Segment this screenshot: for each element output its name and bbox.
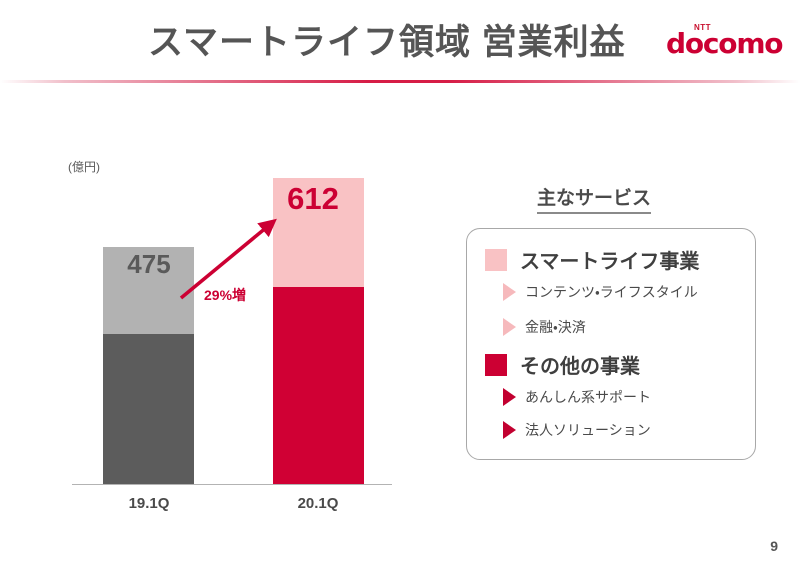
chart-unit-label: (億円): [68, 158, 100, 175]
services-legend-box: スマートライフ事業 コンテンツ・ライフスタイル 金融・決済 その他の事業 あんし…: [466, 228, 756, 460]
docomo-logo: NTT docomo: [666, 24, 778, 60]
legend-group-smartlife-label: スマートライフ事業: [520, 245, 699, 274]
legend-item-corporate-solution-label: 法人ソリューション: [525, 420, 651, 440]
legend-item-contents-lifestyle-label: コンテンツ・ライフスタイル: [525, 282, 698, 302]
bar-20-1q[interactable]: [273, 178, 364, 484]
legend-group-other-label: その他の事業: [520, 350, 640, 379]
header-divider: [0, 80, 800, 83]
chart-baseline-axis: [72, 484, 392, 485]
services-heading: 主なサービス: [537, 183, 651, 214]
legend-item-anshin-support[interactable]: あんしん系サポート: [485, 387, 651, 407]
bar-19-1q[interactable]: [103, 247, 194, 485]
triangle-marker-red-icon: [503, 388, 516, 406]
x-tick-19-1q: 19.1Q: [84, 495, 214, 512]
legend-group-smartlife[interactable]: スマートライフ事業: [485, 245, 699, 274]
page-number: 9: [770, 538, 778, 554]
growth-rate-label: 29%増: [204, 285, 246, 305]
legend-item-corporate-solution[interactable]: 法人ソリューション: [485, 420, 651, 440]
legend-item-finance-payment[interactable]: 金融・決済: [485, 317, 586, 337]
legend-item-contents-lifestyle[interactable]: コンテンツ・ライフスタイル: [485, 282, 698, 302]
bar-segment-other-19-1q: [103, 334, 194, 484]
legend-swatch-pink-icon: [485, 249, 507, 271]
legend-item-finance-payment-label: 金融・決済: [525, 317, 586, 337]
bar-chart: (億円) 475 612 29%増 19.1Q 20.1Q: [0, 90, 440, 530]
logo-wordmark-text: docomo: [666, 30, 782, 58]
triangle-marker-pink-icon: [503, 283, 516, 301]
triangle-marker-pink-icon: [503, 318, 516, 336]
bar-segment-other-20-1q: [273, 287, 364, 485]
slide-header: スマートライフ領域 営業利益 NTT docomo: [0, 0, 800, 80]
triangle-marker-red-icon: [503, 421, 516, 439]
x-tick-20-1q: 20.1Q: [253, 495, 383, 512]
legend-item-anshin-support-label: あんしん系サポート: [525, 387, 651, 407]
bar-value-20-1q: 612: [248, 181, 378, 217]
legend-group-other[interactable]: その他の事業: [485, 350, 640, 379]
page-title: スマートライフ領域 営業利益: [148, 14, 626, 65]
legend-swatch-red-icon: [485, 354, 507, 376]
bar-value-19-1q: 475: [84, 249, 214, 280]
